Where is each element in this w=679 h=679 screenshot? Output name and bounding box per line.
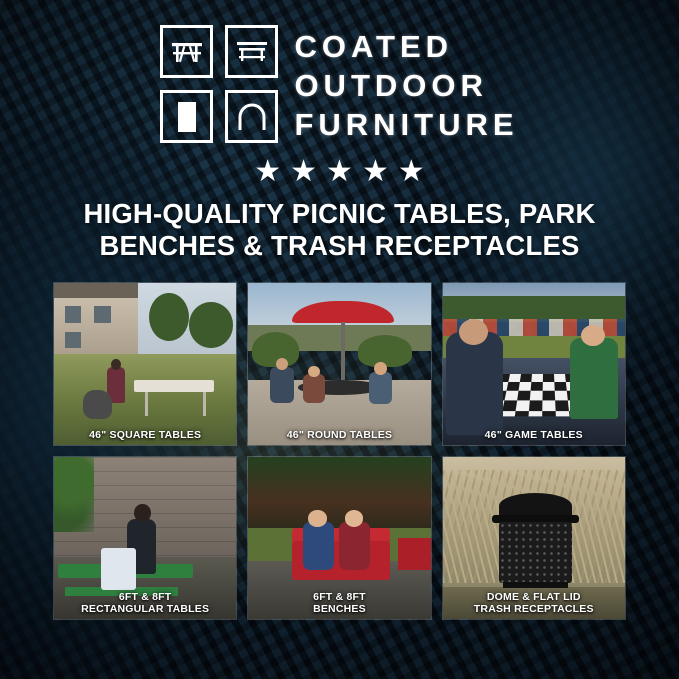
caption-line-2: BENCHES [313,603,366,615]
product-gallery: 46" SQUARE TABLES [53,282,626,620]
square-tables-photo [54,283,236,445]
caption-line-1: 6FT & 8FT [313,591,366,603]
headline-line-1: HIGH-QUALITY PICNIC TABLES, PARK [83,198,595,229]
logo-line-3: FURNITURE [294,107,518,143]
gallery-item-round-tables[interactable]: 46" ROUND TABLES [247,282,431,446]
star-icon: ★ [362,157,389,187]
caption-benches: 6FT & 8FT BENCHES [248,591,430,615]
game-tables-photo [443,283,625,445]
logo-line-1: COATED [294,29,518,65]
caption-round-tables: 46" ROUND TABLES [248,429,430,441]
caption-rectangular-tables: 6FT & 8FT RECTANGULAR TABLES [54,591,236,615]
caption-line-1: 6FT & 8FT [119,591,172,603]
caption-line-1: DOME & FLAT LID [487,591,581,603]
round-tables-photo [248,283,430,445]
caption-line-2: RECTANGULAR TABLES [81,603,209,615]
logo-mark [160,25,278,143]
promo-image: COATED OUTDOOR FURNITURE ★ ★ ★ ★ ★ HIGH-… [0,0,679,679]
gallery-item-benches[interactable]: 6FT & 8FT BENCHES [247,456,431,620]
gallery-row-2: 6FT & 8FT RECTANGULAR TABLES [53,456,626,620]
star-icon: ★ [290,157,317,187]
gallery-item-square-tables[interactable]: 46" SQUARE TABLES [53,282,237,446]
star-icon: ★ [326,157,353,187]
gallery-item-trash-receptacles[interactable]: DOME & FLAT LID TRASH RECEPTACLES [442,456,626,620]
park-bench-icon [225,25,278,78]
gallery-item-rectangular-tables[interactable]: 6FT & 8FT RECTANGULAR TABLES [53,456,237,620]
star-icon: ★ [254,157,281,187]
arch-bench-icon [225,90,278,143]
headline-line-2: BENCHES & TRASH RECEPTACLES [28,230,651,262]
logo-wordmark: COATED OUTDOOR FURNITURE [294,25,518,143]
gallery-item-game-tables[interactable]: 46" GAME TABLES [442,282,626,446]
star-icon: ★ [398,157,425,187]
logo-line-2: OUTDOOR [294,68,518,104]
picnic-table-icon [160,25,213,78]
headline: HIGH-QUALITY PICNIC TABLES, PARK BENCHES… [0,198,679,262]
caption-line-2: TRASH RECEPTACLES [474,603,594,615]
caption-square-tables: 46" SQUARE TABLES [54,429,236,441]
star-rating: ★ ★ ★ ★ ★ [0,157,679,187]
caption-trash-receptacles: DOME & FLAT LID TRASH RECEPTACLES [443,591,625,615]
caption-game-tables: 46" GAME TABLES [443,429,625,441]
gallery-row-1: 46" SQUARE TABLES [53,282,626,446]
trash-receptacle-icon [160,90,213,143]
content-layer: COATED OUTDOOR FURNITURE ★ ★ ★ ★ ★ HIGH-… [0,0,679,679]
brand-logo: COATED OUTDOOR FURNITURE [0,25,679,143]
